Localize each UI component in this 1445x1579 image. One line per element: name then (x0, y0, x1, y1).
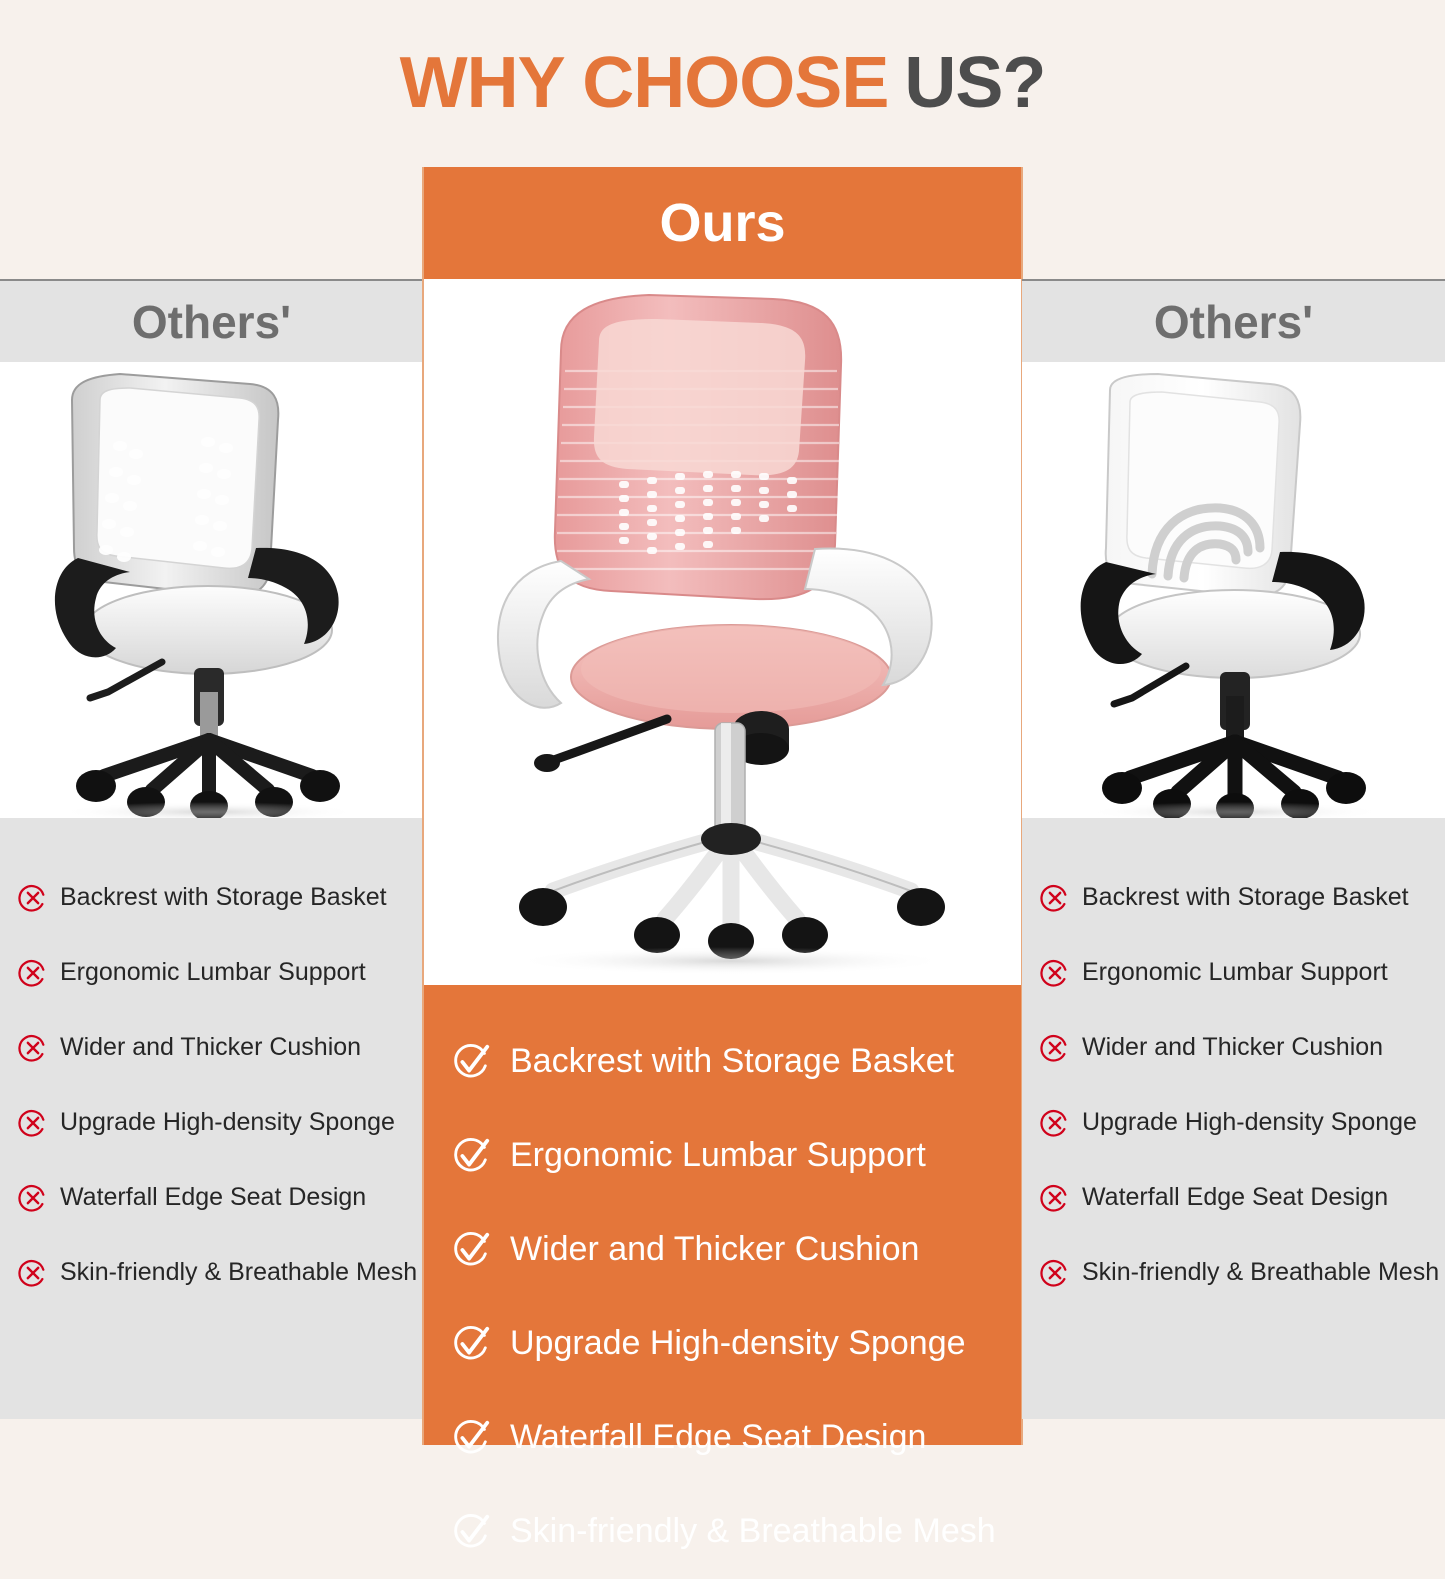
feature-label: Upgrade High-density Sponge (510, 1325, 966, 1362)
circle-check-icon (450, 1229, 492, 1271)
others-right-product-photo (1022, 362, 1445, 818)
feature-row: Upgrade High-density Sponge (450, 1297, 1021, 1391)
others-left-header-label: Others' (132, 299, 291, 345)
feature-label: Skin-friendly & Breathable Mesh (510, 1513, 996, 1550)
feature-label: Upgrade High-density Sponge (1082, 1109, 1417, 1137)
comparison-column-others-left: Others' (0, 279, 423, 1419)
feature-row: Ergonomic Lumbar Support (450, 1109, 1021, 1203)
ours-header-label: Ours (659, 196, 785, 250)
feature-row: Backrest with Storage Basket (18, 860, 423, 935)
feature-label: Wider and Thicker Cushion (510, 1231, 919, 1268)
circle-x-icon (18, 1258, 48, 1288)
others-left-feature-list: Backrest with Storage Basket Ergonomic L… (0, 818, 423, 1419)
feature-row: Waterfall Edge Seat Design (18, 1160, 423, 1235)
circle-x-icon (1040, 883, 1070, 913)
circle-x-icon (18, 958, 48, 988)
others-right-feature-list: Backrest with Storage Basket Ergonomic L… (1022, 818, 1445, 1419)
feature-label: Skin-friendly & Breathable Mesh (1082, 1259, 1439, 1287)
white-office-chair-illustration (1034, 362, 1434, 818)
circle-x-icon (18, 1183, 48, 1213)
feature-label: Backrest with Storage Basket (60, 884, 387, 912)
pink-office-chair-illustration (443, 279, 1003, 985)
page-title: WHY CHOOSEUS? (0, 0, 1445, 165)
feature-row: Wider and Thicker Cushion (450, 1203, 1021, 1297)
circle-check-icon (450, 1417, 492, 1459)
feature-label: Backrest with Storage Basket (1082, 884, 1409, 912)
feature-label: Waterfall Edge Seat Design (1082, 1184, 1388, 1212)
circle-check-icon (450, 1041, 492, 1083)
circle-x-icon (1040, 958, 1070, 988)
feature-label: Backrest with Storage Basket (510, 1043, 954, 1080)
circle-x-icon (1040, 1258, 1070, 1288)
feature-label: Wider and Thicker Cushion (1082, 1034, 1383, 1062)
others-right-header-label: Others' (1154, 299, 1313, 345)
others-left-header: Others' (0, 279, 423, 362)
feature-label: Waterfall Edge Seat Design (60, 1184, 366, 1212)
ours-product-photo (424, 279, 1021, 985)
ours-header: Ours (424, 167, 1021, 279)
circle-x-icon (1040, 1183, 1070, 1213)
feature-row: Wider and Thicker Cushion (18, 1010, 423, 1085)
ours-feature-list: Backrest with Storage Basket Ergonomic L… (424, 985, 1021, 1445)
gray-office-chair-illustration (12, 362, 412, 818)
feature-row: Ergonomic Lumbar Support (1040, 935, 1445, 1010)
comparison-column-ours: Ours (422, 167, 1023, 1445)
page-title-highlight: WHY CHOOSE (400, 43, 889, 123)
page-title-rest: US? (904, 43, 1045, 123)
feature-label: Ergonomic Lumbar Support (1082, 959, 1388, 987)
others-right-header: Others' (1022, 279, 1445, 362)
circle-x-icon (18, 1108, 48, 1138)
circle-x-icon (18, 883, 48, 913)
feature-label: Upgrade High-density Sponge (60, 1109, 395, 1137)
others-left-product-photo (0, 362, 423, 818)
circle-x-icon (18, 1033, 48, 1063)
feature-row: Waterfall Edge Seat Design (1040, 1160, 1445, 1235)
feature-row: Upgrade High-density Sponge (18, 1085, 423, 1160)
feature-row: Waterfall Edge Seat Design (450, 1391, 1021, 1485)
feature-row: Wider and Thicker Cushion (1040, 1010, 1445, 1085)
feature-row: Backrest with Storage Basket (1040, 860, 1445, 935)
circle-check-icon (450, 1135, 492, 1177)
feature-row: Skin-friendly & Breathable Mesh (450, 1485, 1021, 1579)
circle-check-icon (450, 1511, 492, 1553)
feature-label: Ergonomic Lumbar Support (60, 959, 366, 987)
circle-check-icon (450, 1323, 492, 1365)
feature-row: Backrest with Storage Basket (450, 1015, 1021, 1109)
feature-row: Skin-friendly & Breathable Mesh (18, 1235, 423, 1310)
feature-label: Waterfall Edge Seat Design (510, 1419, 926, 1456)
circle-x-icon (1040, 1108, 1070, 1138)
circle-x-icon (1040, 1033, 1070, 1063)
feature-row: Ergonomic Lumbar Support (18, 935, 423, 1010)
feature-label: Skin-friendly & Breathable Mesh (60, 1259, 417, 1287)
comparison-column-others-right: Others' (1022, 279, 1445, 1419)
feature-row: Upgrade High-density Sponge (1040, 1085, 1445, 1160)
feature-label: Wider and Thicker Cushion (60, 1034, 361, 1062)
feature-label: Ergonomic Lumbar Support (510, 1137, 926, 1174)
feature-row: Skin-friendly & Breathable Mesh (1040, 1235, 1445, 1310)
